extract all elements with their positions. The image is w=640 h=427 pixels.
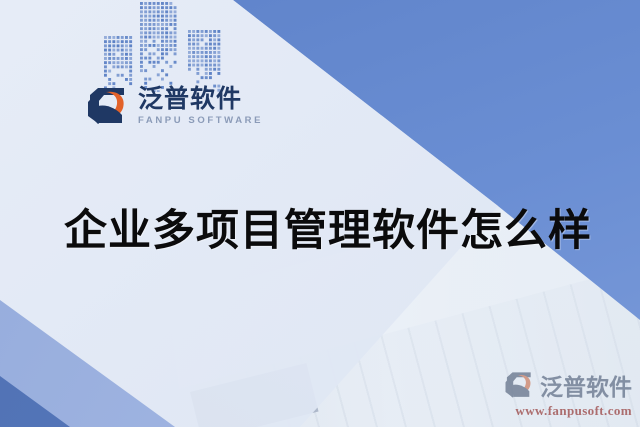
fanpu-watermark-mark-icon [504,371,535,399]
promo-banner: 泛普软件 FANPU SOFTWARE 企业多项目管理软件怎么样 泛普软件 ww… [0,0,640,427]
site-watermark: 泛普软件 www.fanpusoft.com [504,368,632,419]
logo-name-en: FANPU SOFTWARE [138,116,263,126]
fanpu-logo: 泛普软件 FANPU SOFTWARE [86,86,263,126]
logo-name-cn: 泛普软件 [138,86,263,111]
watermark-name-cn: 泛普软件 [540,368,632,402]
pixel-skyline-icon [100,0,230,92]
page-title: 企业多项目管理软件怎么样 [64,196,592,258]
watermark-url: www.fanpusoft.com [515,403,632,419]
logo-text-block: 泛普软件 FANPU SOFTWARE [138,86,263,126]
watermark-row: 泛普软件 [504,368,632,402]
fanpu-logo-mark-icon [86,86,130,126]
